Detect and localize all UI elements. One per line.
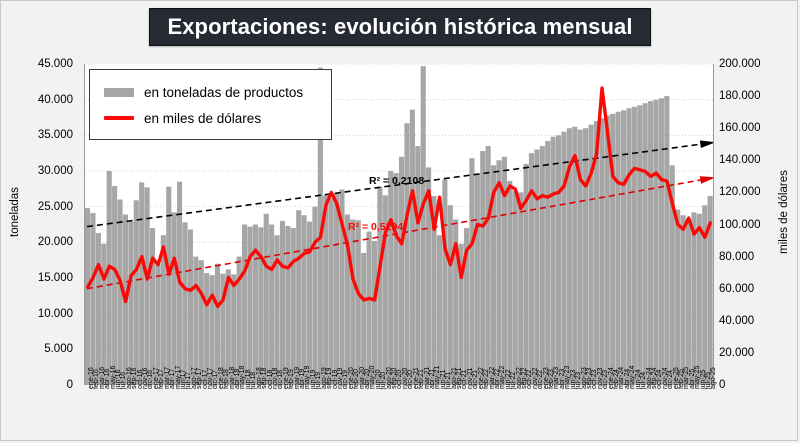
y-tick-right: 40.000 — [719, 316, 779, 326]
y-tick-right: 100.000 — [719, 220, 779, 230]
chart-title: Exportaciones: evolución histórica mensu… — [149, 8, 651, 46]
y-axis-left-ticks: 05.00010.00015.00020.00025.00030.00035.0… — [15, 1, 73, 442]
r2-annotation-dolares: R² = 0,5294 — [348, 221, 403, 233]
chart-legend: en toneladas de productos en miles de dó… — [89, 69, 332, 140]
legend-item-toneladas: en toneladas de productos — [104, 79, 331, 105]
y-tick-left: 35.000 — [15, 130, 73, 140]
y-axis-right-ticks: 020.00040.00060.00080.000100.000120.0001… — [719, 1, 781, 442]
y-tick-left: 25.000 — [15, 202, 73, 212]
y-tick-left: 0 — [15, 380, 73, 390]
y-tick-left: 40.000 — [15, 95, 73, 105]
y-tick-right: 80.000 — [719, 252, 779, 262]
y-tick-right: 120.000 — [719, 187, 779, 197]
y-tick-left: 20.000 — [15, 237, 73, 247]
y-tick-right: 160.000 — [719, 123, 779, 133]
legend-label-dolares: en miles de dólares — [144, 111, 261, 126]
y-tick-left: 5.000 — [15, 344, 73, 354]
y-tick-right: 0 — [719, 380, 779, 390]
legend-label-toneladas: en toneladas de productos — [144, 85, 303, 100]
y-tick-left: 30.000 — [15, 166, 73, 176]
legend-item-dolares: en miles de dólares — [104, 105, 331, 131]
y-tick-right: 20.000 — [719, 348, 779, 358]
bar-swatch-icon — [104, 88, 134, 97]
y-tick-right: 140.000 — [719, 155, 779, 165]
chart-frame: Exportaciones: evolución histórica mensu… — [0, 0, 798, 441]
x-axis-labels: ene-16feb-16mar-16abr-16may-16jun-16jul-… — [84, 387, 712, 443]
r2-annotation-toneladas: R² = 0,2108 — [369, 175, 424, 187]
y-tick-right: 180.000 — [719, 91, 779, 101]
x-tick-label: ago-25 — [711, 367, 717, 389]
line-swatch-icon — [104, 116, 134, 120]
y-tick-right: 60.000 — [719, 284, 779, 294]
y-tick-right: 200.000 — [719, 59, 779, 69]
y-tick-left: 45.000 — [15, 59, 73, 69]
y-tick-left: 15.000 — [15, 273, 73, 283]
y-tick-left: 10.000 — [15, 309, 73, 319]
